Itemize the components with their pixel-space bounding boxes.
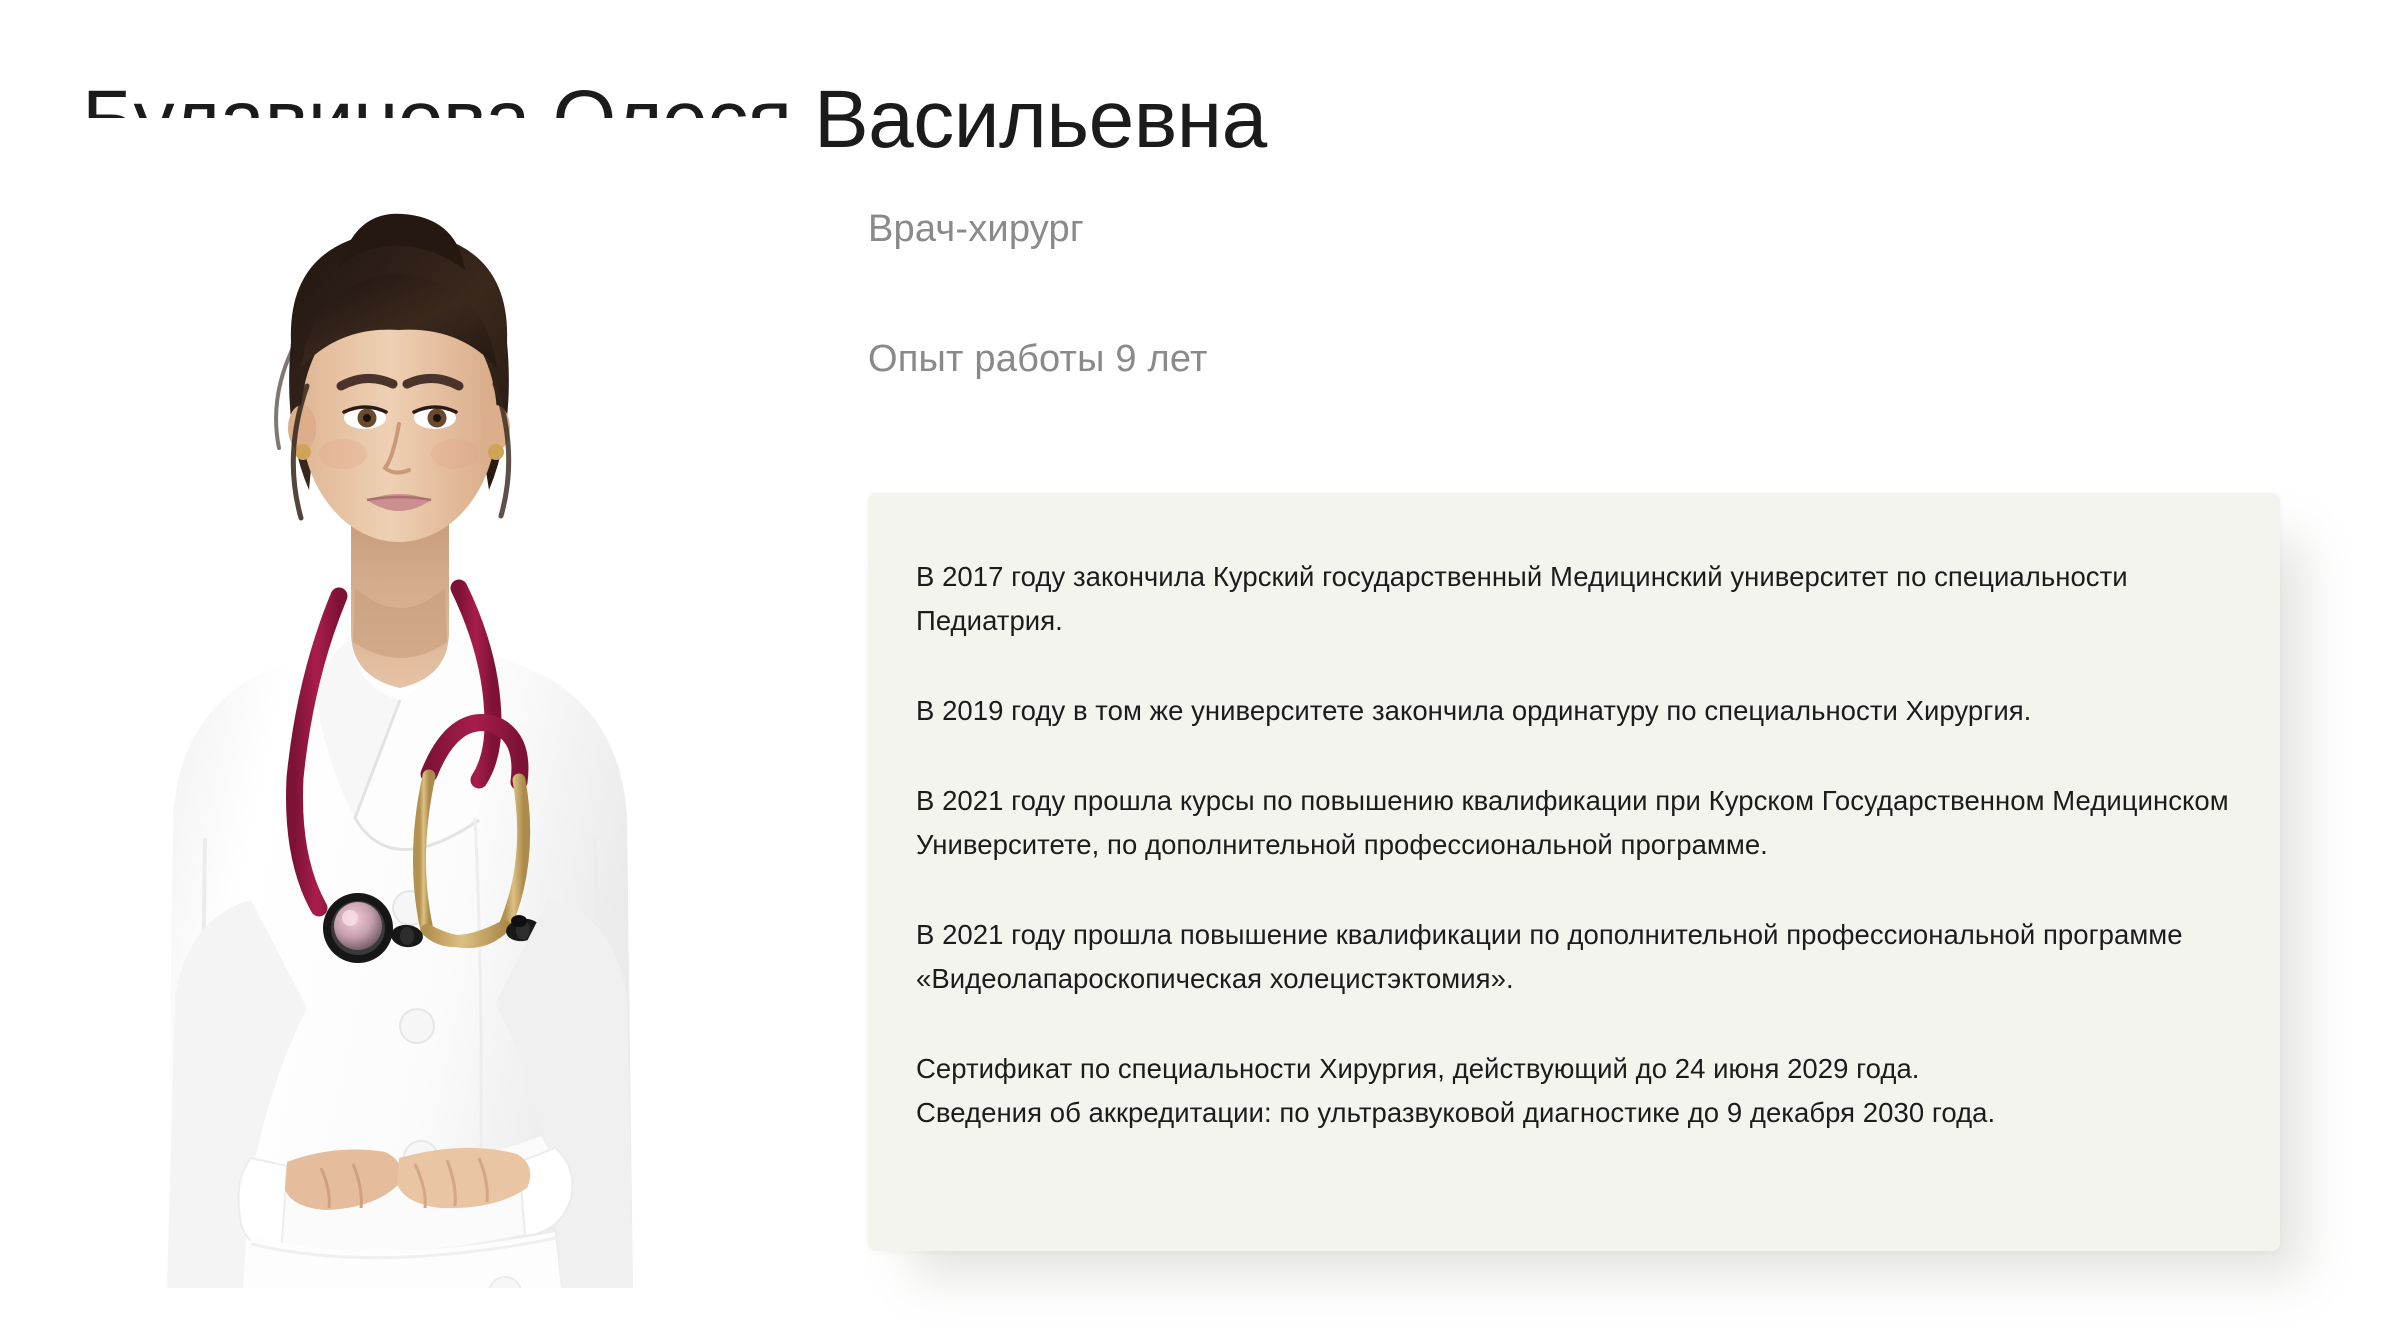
accreditation-line: Сведения об аккредитации: по ультразвуко… [916, 1091, 2232, 1135]
bio-paragraph: В 2021 году прошла повышение квалификаци… [916, 913, 2232, 1001]
doctor-photo-illustration [55, 118, 815, 1288]
bio-paragraph: В 2017 году закончила Курский государств… [916, 555, 2232, 643]
bio-paragraph: В 2021 году прошла курсы по повышению кв… [916, 779, 2232, 867]
certificate-line: Сертификат по специальности Хирургия, де… [916, 1047, 2232, 1091]
doctor-photo [55, 118, 815, 1288]
doctor-role: Врач-хирург [868, 208, 1084, 251]
doctor-profile-page: Булавинова Олеся Васильевна [0, 0, 2384, 1330]
bio-card: В 2017 году закончила Курский государств… [868, 493, 2280, 1251]
doctor-experience: Опыт работы 9 лет [868, 338, 1208, 381]
bio-paragraph: В 2019 году в том же университете законч… [916, 689, 2232, 733]
bio-paragraph-list: В 2017 году закончила Курский государств… [916, 555, 2232, 1135]
bio-certificate-block: Сертификат по специальности Хирургия, де… [916, 1047, 2232, 1135]
